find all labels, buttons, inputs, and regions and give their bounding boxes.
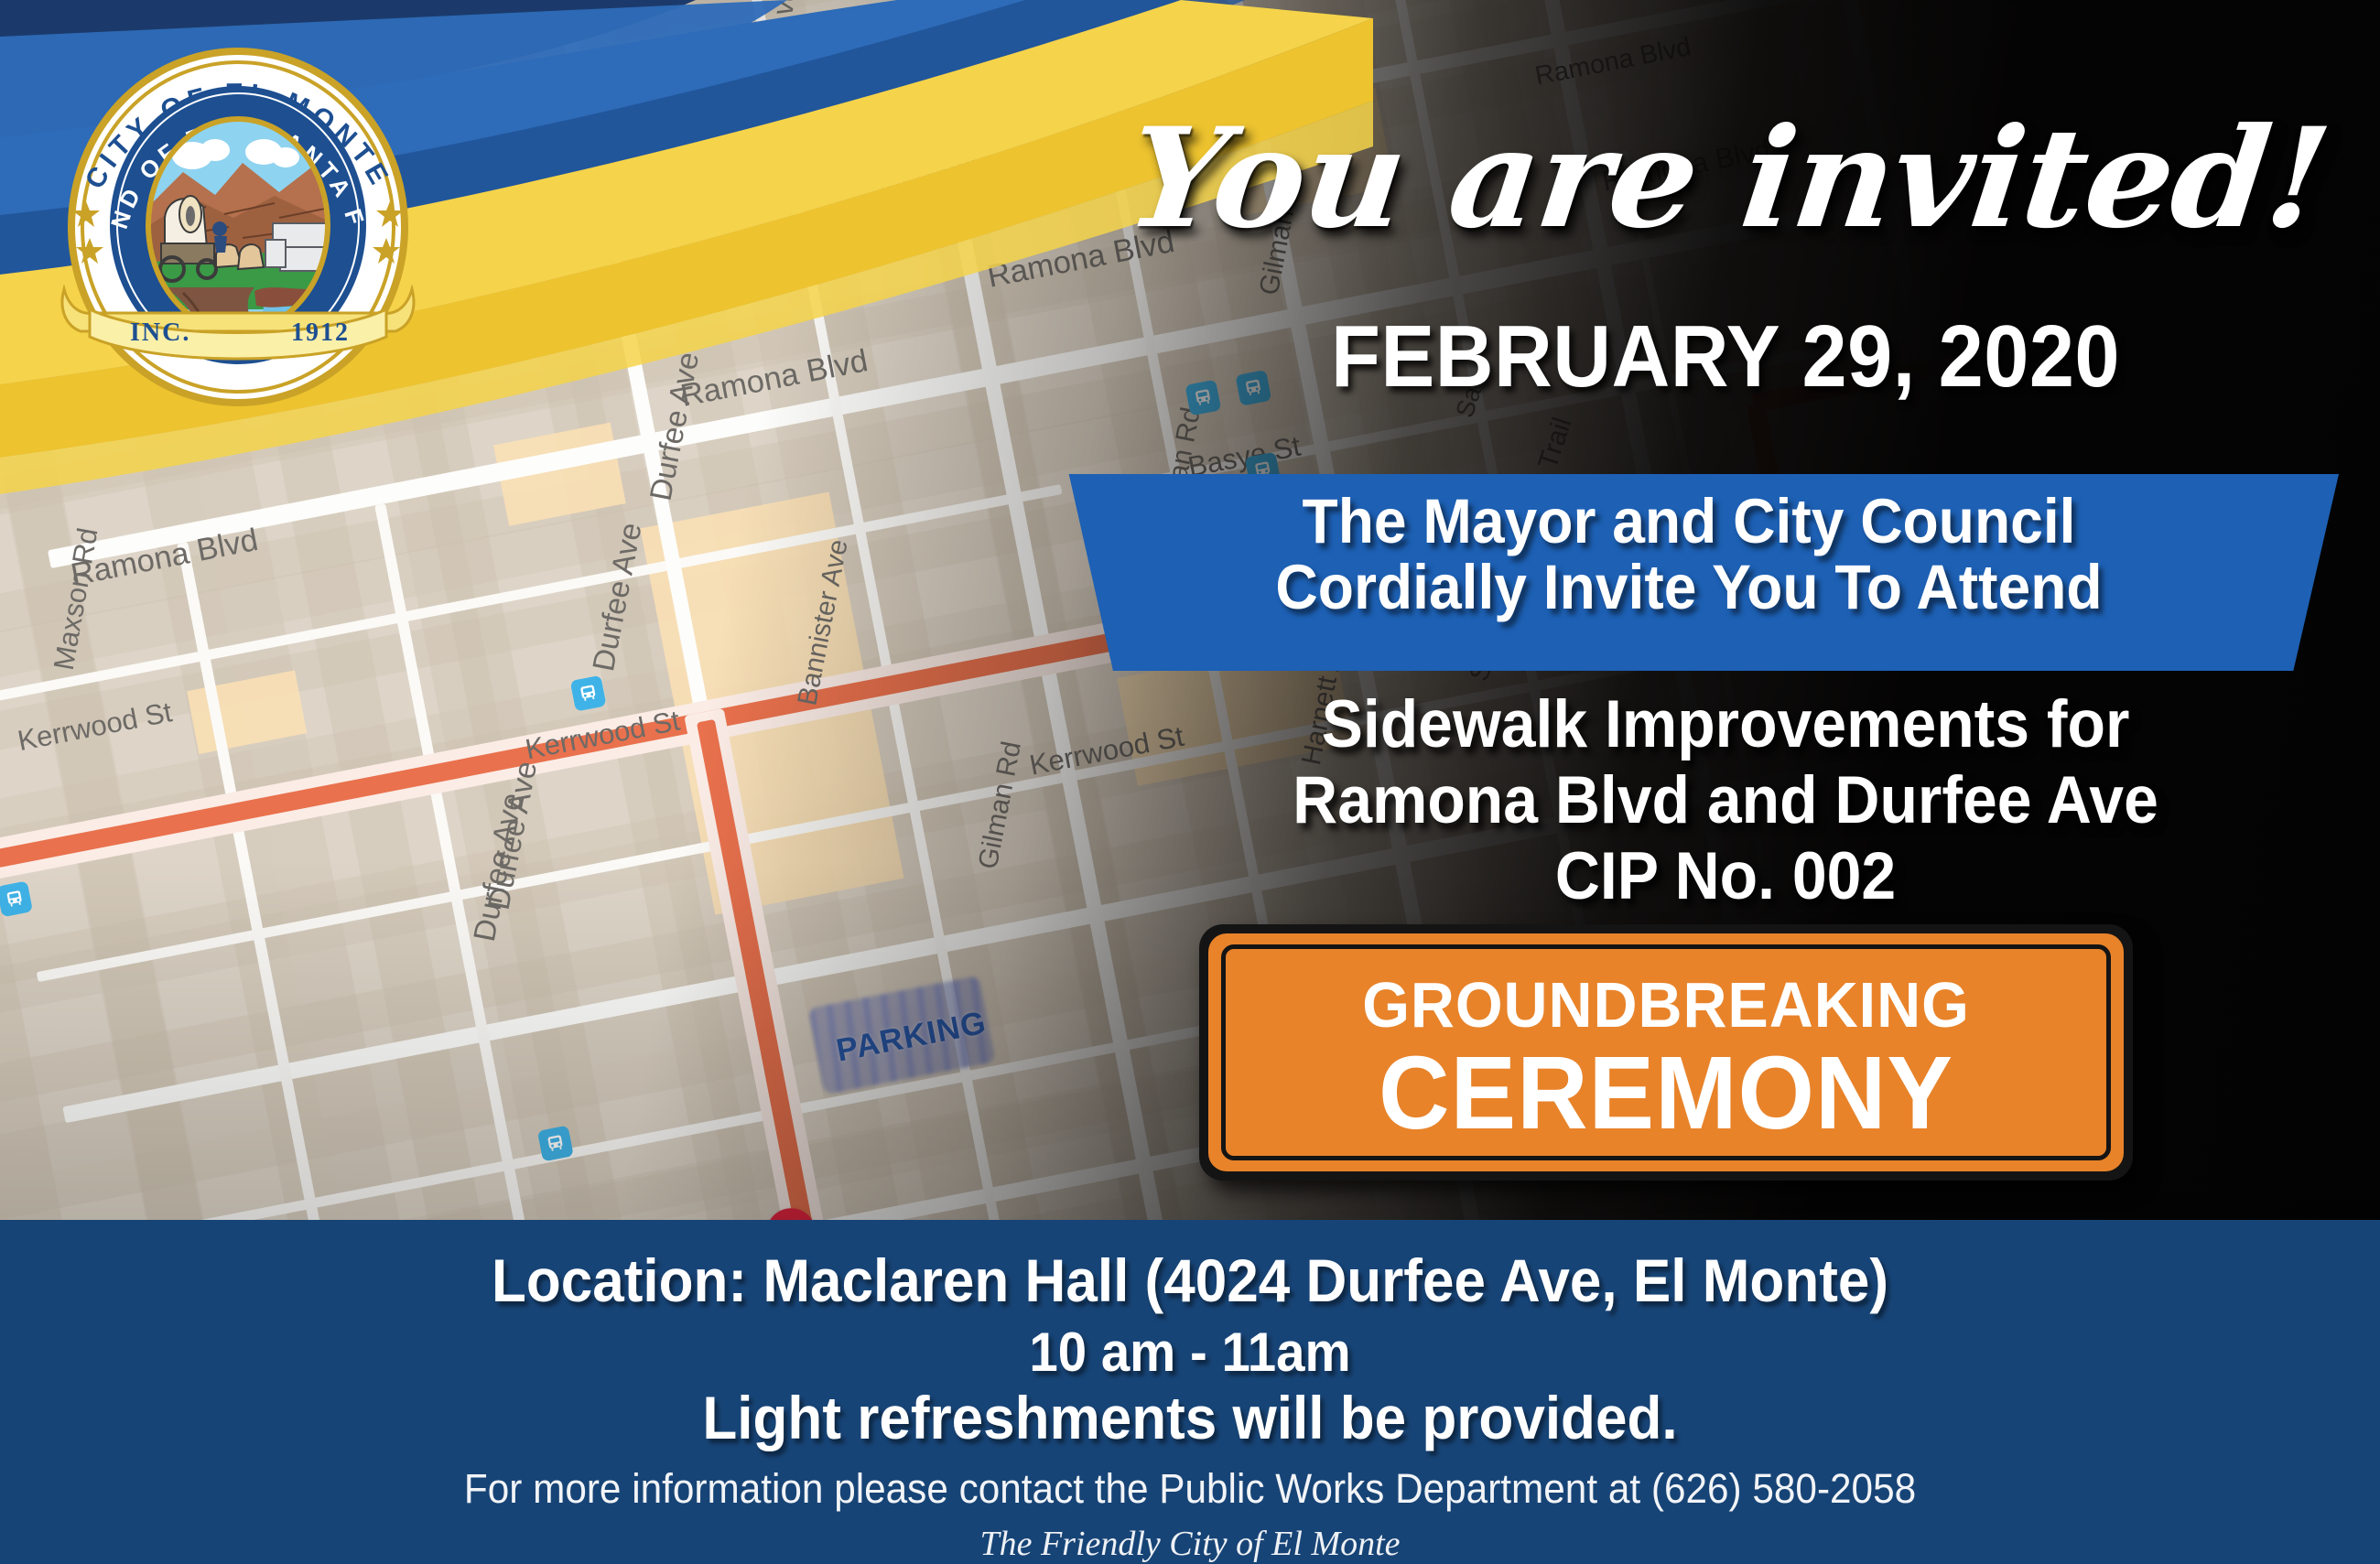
headline-you-are-invited: You are invited! bbox=[1101, 110, 2351, 293]
sign-line-1: GROUNDBREAKING bbox=[1223, 968, 2110, 1041]
footer-time: 10 am - 11am bbox=[71, 1321, 2309, 1384]
groundbreaking-ceremony-sign: GROUNDBREAKING CEREMONY bbox=[1199, 924, 2133, 1181]
ribbon-text-block: The Mayor and City Council Cordially Inv… bbox=[1085, 489, 2294, 621]
event-date: FEBRUARY 29, 2020 bbox=[1162, 307, 2290, 407]
footer-location: Location: Maclaren Hall (4024 Durfee Ave… bbox=[71, 1246, 2309, 1315]
footer-contact: For more information please contact the … bbox=[71, 1465, 2309, 1513]
footer-refreshments: Light refreshments will be provided. bbox=[71, 1383, 2309, 1452]
sign-line-2: CEREMONY bbox=[1223, 1041, 2110, 1145]
project-line-1: Sidewalk Improvements for bbox=[1155, 686, 2296, 762]
footer-tagline: The Friendly City of El Monte bbox=[0, 1524, 2380, 1564]
project-title-block: Sidewalk Improvements for Ramona Blvd an… bbox=[1155, 686, 2296, 915]
seal-banner-right-text: 1912 bbox=[291, 318, 350, 347]
project-line-3: CIP No. 002 bbox=[1155, 838, 2296, 914]
ribbon-line-1: The Mayor and City Council bbox=[1085, 489, 2294, 555]
footer-bar: Location: Maclaren Hall (4024 Durfee Ave… bbox=[0, 1220, 2380, 1564]
project-line-2: Ramona Blvd and Durfee Ave bbox=[1155, 762, 2296, 838]
city-of-el-monte-seal: CITY OF EL MONTE CALIFORNIA END OF THE S… bbox=[46, 35, 430, 419]
ribbon-line-2: Cordially Invite You To Attend bbox=[1085, 555, 2294, 620]
seal-banner-left-text: INC. bbox=[130, 318, 190, 347]
invitation-poster: PARKING 605 Lambert AveLambert AveDurfee… bbox=[0, 0, 2380, 1564]
